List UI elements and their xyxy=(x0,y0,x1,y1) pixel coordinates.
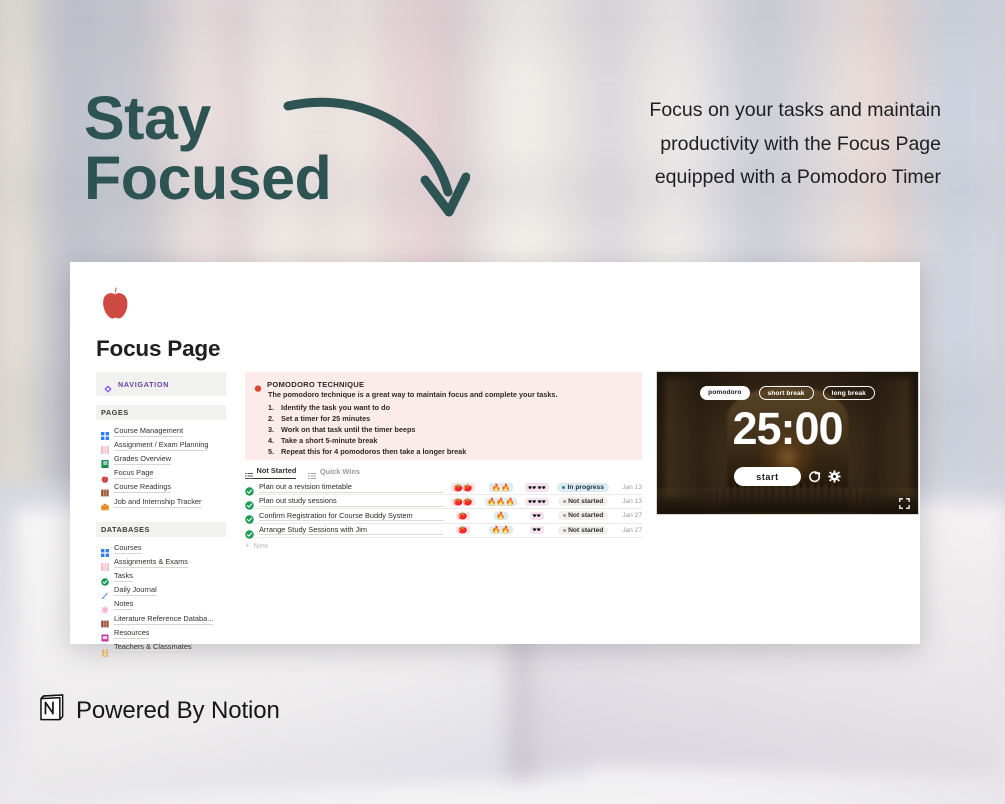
sidebar-item-label: Grades Overview xyxy=(114,454,171,465)
task-title: Plan out a revision timetable xyxy=(259,482,444,493)
callout-title: POMODORO TECHNIQUE xyxy=(267,379,364,389)
energy-pill: 🔥🔥 xyxy=(489,526,512,534)
pomodoro-pill: 🍅 xyxy=(456,512,470,520)
green-check-icon xyxy=(101,573,109,581)
task-energy-cell: 🔥🔥 xyxy=(482,483,520,491)
status-badge-label: Not started xyxy=(568,527,603,534)
magenta-card-icon xyxy=(101,629,109,637)
sidebar-item-label: Resources xyxy=(114,628,149,639)
pomodoro-callout: POMODORO TECHNIQUE The pomodoro techniqu… xyxy=(245,372,642,460)
sidebar-item-tasks[interactable]: Tasks xyxy=(96,570,226,584)
pomodoro-pill: 🍅🍅 xyxy=(451,483,474,491)
sidebar-item-course-management[interactable]: Course Management xyxy=(96,424,226,438)
task-list: Plan out a revision timetable 🍅🍅 🔥🔥 🕶️🕶️… xyxy=(245,481,642,551)
green-spreadsheet-icon xyxy=(101,455,109,463)
brown-books-icon xyxy=(101,484,109,492)
callout-step-text: Set a timer for 25 minutes xyxy=(281,413,370,424)
callout-step-number: 3. xyxy=(268,424,281,435)
task-date: Jan 13 xyxy=(612,498,642,505)
sidebar-item-focus-page[interactable]: Focus Page xyxy=(96,467,226,481)
callout-step-text: Repeat this for 4 pomodoros then take a … xyxy=(281,446,466,457)
status-badge: In progress xyxy=(557,483,609,492)
callout-step: 1. Identify the task you want to do xyxy=(268,402,632,413)
status-badge: Not started xyxy=(558,526,609,535)
pink-table-icon xyxy=(101,558,109,566)
callout-step: 4. Take a short 5-minute break xyxy=(268,435,632,446)
task-pomodoro-cell: 🍅🍅 xyxy=(444,483,482,491)
timer-mode-tabs: pomodoro short break long break xyxy=(657,386,918,400)
task-pomodoro-cell: 🍅 xyxy=(444,512,482,520)
sidebar-item-label: Tasks xyxy=(114,571,133,582)
timer-start-button[interactable]: start xyxy=(734,467,801,486)
green-check-icon[interactable] xyxy=(245,483,254,492)
expand-icon[interactable] xyxy=(899,496,910,507)
pen-icon xyxy=(101,587,109,595)
callout-step: 2. Set a timer for 25 minutes xyxy=(268,413,632,424)
notion-logo-icon xyxy=(38,694,66,727)
callout-step-text: Work on that task until the timer beeps xyxy=(281,424,415,435)
sidebar-item-teachers-classmates[interactable]: Teachers & Classmates xyxy=(96,640,226,654)
task-title: Confirm Registration for Course Buddy Sy… xyxy=(259,511,444,522)
people-icon xyxy=(101,644,109,652)
tomato-icon xyxy=(254,379,262,387)
task-status-cell: In progress xyxy=(554,483,612,492)
sidebar-item-assignment-exam-planning[interactable]: Assignment / Exam Planning xyxy=(96,438,226,452)
sidebar-item-label: Course Management xyxy=(114,426,183,437)
pink-sparkle-icon xyxy=(101,601,109,609)
sidebar-item-label: Teachers & Classmates xyxy=(114,642,192,653)
status-badge-label: Not started xyxy=(568,498,603,505)
red-apple-icon xyxy=(100,286,130,320)
focus-pill: 🕶️ xyxy=(530,526,544,534)
callout-step-text: Identify the task you want to do xyxy=(281,402,390,413)
sidebar-item-label: Course Readings xyxy=(114,482,171,493)
task-status-cell: Not started xyxy=(554,526,612,535)
callout-step: 5. Repeat this for 4 pomodoros then take… xyxy=(268,446,632,457)
task-focus-cell: 🕶️🕶️ xyxy=(520,483,554,491)
sidebar-item-resources[interactable]: Resources xyxy=(96,626,226,640)
tab-label: Quick Wins xyxy=(320,467,360,476)
focus-pill: 🕶️🕶️ xyxy=(525,498,548,506)
task-view-tabs: Not Started Quick Wins xyxy=(245,466,360,479)
sidebar-item-assignments-exams[interactable]: Assignments & Exams xyxy=(96,555,226,569)
tab-quick-wins[interactable]: Quick Wins xyxy=(308,467,360,479)
add-new-task-label: New xyxy=(254,541,268,550)
task-title: Plan out study sessions xyxy=(259,496,444,507)
brown-books-icon xyxy=(101,615,109,623)
footer: Powered By Notion xyxy=(38,694,280,727)
list-view-icon xyxy=(308,467,316,475)
green-check-icon[interactable] xyxy=(245,497,254,506)
sidebar-item-literature-reference-database[interactable]: Literature Reference Databa... xyxy=(96,612,226,626)
pomodoro-timer-widget[interactable]: pomodoro short break long break 25:00 st… xyxy=(656,371,919,515)
task-pomodoro-cell: 🍅 xyxy=(444,526,482,534)
curved-arrow-icon xyxy=(280,88,470,238)
list-view-icon xyxy=(245,467,253,475)
footer-label: Powered By Notion xyxy=(76,697,280,725)
focus-pill: 🕶️🕶️ xyxy=(525,483,548,491)
task-energy-cell: 🔥🔥🔥 xyxy=(482,498,520,506)
task-energy-cell: 🔥 xyxy=(482,512,520,520)
status-badge-label: Not started xyxy=(568,512,603,519)
task-pomodoro-cell: 🍅🍅 xyxy=(444,498,482,506)
callout-lead: The pomodoro technique is a great way to… xyxy=(268,390,632,401)
task-energy-cell: 🔥🔥 xyxy=(482,526,520,534)
purple-diamond-icon xyxy=(104,380,112,388)
sidebar-item-label: Courses xyxy=(114,543,142,554)
task-date: Jan 27 xyxy=(612,527,642,534)
pomodoro-pill: 🍅 xyxy=(456,526,470,534)
table-row[interactable]: Arrange Study Sessions with Jim 🍅 🔥🔥 🕶️ … xyxy=(245,524,642,538)
callout-step-list: 1. Identify the task you want to do 2. S… xyxy=(268,402,632,457)
sidebar-item-label: Notes xyxy=(114,599,133,610)
orange-briefcase-icon xyxy=(101,498,109,506)
pink-table-icon xyxy=(101,441,109,449)
task-status-cell: Not started xyxy=(554,497,612,506)
sidebar-spacer xyxy=(96,509,226,522)
poster-canvas: Stay Focused Focus on your tasks and mai… xyxy=(0,0,1005,804)
sidebar-item-label: Focus Page xyxy=(114,468,153,479)
task-title: Arrange Study Sessions with Jim xyxy=(259,525,444,536)
task-date: Jan 13 xyxy=(612,484,642,491)
energy-pill: 🔥🔥🔥 xyxy=(485,498,518,506)
sidebar-item-label: Daily Journal xyxy=(114,585,157,596)
hero-description: Focus on your tasks and maintain product… xyxy=(611,94,941,195)
energy-pill: 🔥🔥 xyxy=(489,483,512,491)
table-row[interactable]: Plan out a revision timetable 🍅🍅 🔥🔥 🕶️🕶️… xyxy=(245,481,642,495)
task-focus-cell: 🕶️ xyxy=(520,526,554,534)
green-check-icon[interactable] xyxy=(245,511,254,520)
sidebar-nav-pill-label: NAVIGATION xyxy=(118,380,169,389)
blue-grid-icon xyxy=(101,427,109,435)
table-row[interactable]: Plan out study sessions 🍅🍅 🔥🔥🔥 🕶️🕶️ Not … xyxy=(245,495,642,509)
status-badge: Not started xyxy=(558,497,609,506)
timer-display: 25:00 xyxy=(657,406,918,451)
red-apple-icon xyxy=(101,470,109,478)
gear-icon[interactable] xyxy=(828,470,841,483)
focus-pill: 🕶️ xyxy=(530,512,544,520)
status-badge-label: In progress xyxy=(568,484,604,491)
pomodoro-pill: 🍅🍅 xyxy=(451,498,474,506)
plus-icon: + xyxy=(245,542,250,550)
task-focus-cell: 🕶️ xyxy=(520,512,554,520)
tab-not-started[interactable]: Not Started xyxy=(245,466,296,479)
sidebar-item-notes[interactable]: Notes xyxy=(96,598,226,612)
tab-label: Not Started xyxy=(257,466,297,475)
sidebar-section-databases-heading: DATABASES xyxy=(96,522,226,537)
task-status-cell: Not started xyxy=(554,511,612,520)
timer-mode-pomodoro[interactable]: pomodoro xyxy=(700,386,749,400)
blue-grid-icon xyxy=(101,544,109,552)
sidebar-item-label: Literature Reference Databa... xyxy=(114,614,213,625)
callout-step-number: 4. xyxy=(268,435,281,446)
sidebar-item-job-and-internship-tracker[interactable]: Job and Internship Tracker xyxy=(96,495,226,509)
page-title: Focus Page xyxy=(96,336,220,362)
sidebar-section-pages-heading: PAGES xyxy=(96,405,226,420)
sidebar-item-grades-overview[interactable]: Grades Overview xyxy=(96,452,226,466)
sidebar-item-label: Assignment / Exam Planning xyxy=(114,440,208,451)
task-focus-cell: 🕶️🕶️ xyxy=(520,498,554,506)
callout-step-number: 2. xyxy=(268,413,281,424)
timer-mode-short-break[interactable]: short break xyxy=(759,386,814,400)
callout-step-number: 1. xyxy=(268,402,281,413)
timer-mode-long-break[interactable]: long break xyxy=(823,386,875,400)
timer-controls: start xyxy=(657,467,918,486)
sidebar-item-courses[interactable]: Courses xyxy=(96,541,226,555)
callout-step: 3. Work on that task until the timer bee… xyxy=(268,424,632,435)
callout-step-text: Take a short 5-minute break xyxy=(281,435,377,446)
task-date: Jan 27 xyxy=(612,512,642,519)
sidebar-nav-pill[interactable]: NAVIGATION xyxy=(96,372,226,396)
reset-icon[interactable] xyxy=(808,470,821,483)
sidebar-item-label: Job and Internship Tracker xyxy=(114,497,202,508)
status-badge: Not started xyxy=(558,511,609,520)
table-row[interactable]: Confirm Registration for Course Buddy Sy… xyxy=(245,509,642,523)
sidebar-item-label: Assignments & Exams xyxy=(114,557,188,568)
callout-step-number: 5. xyxy=(268,446,281,457)
add-new-task-button[interactable]: + New xyxy=(245,538,642,551)
sidebar-item-daily-journal[interactable]: Daily Journal xyxy=(96,584,226,598)
sidebar: NAVIGATION PAGES Course Management Assig… xyxy=(96,372,226,655)
sidebar-item-course-readings[interactable]: Course Readings xyxy=(96,481,226,495)
green-check-icon[interactable] xyxy=(245,526,254,535)
energy-pill: 🔥 xyxy=(494,512,508,520)
